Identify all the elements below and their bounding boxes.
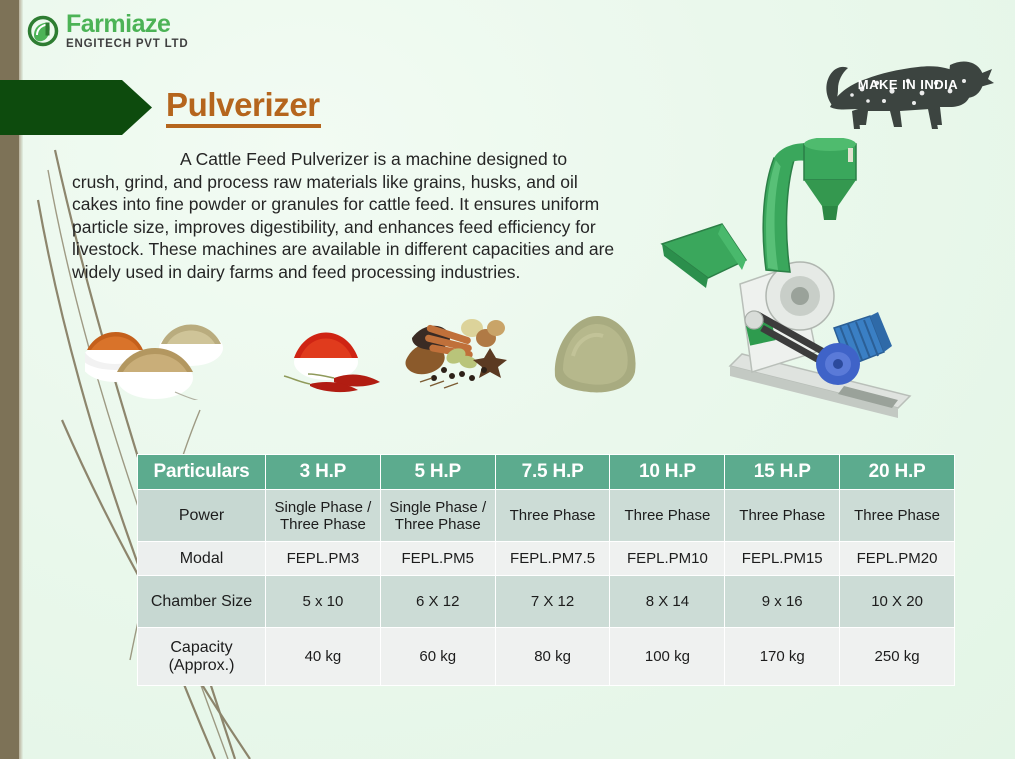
brand-name: Farmiaze	[66, 12, 188, 37]
cell-power-75hp: Three Phase	[495, 490, 610, 542]
product-photo-strip	[85, 296, 660, 406]
title-arrow-banner	[0, 80, 152, 135]
description-paragraph: A Cattle Feed Pulverizer is a machine de…	[72, 148, 617, 283]
leaf-circle-icon	[27, 15, 59, 47]
brand-logo: Farmiaze ENGITECH PVT LTD	[27, 12, 188, 51]
spice-powder-bowls-photo	[85, 300, 240, 400]
cell-chamber-10hp: 8 X 14	[610, 576, 725, 628]
page-title-underline	[166, 124, 321, 128]
cell-capacity-5hp: 60 kg	[380, 628, 495, 686]
row-label-power: Power	[138, 490, 266, 542]
slide: Farmiaze ENGITECH PVT LTD Pulverizer MAK…	[0, 0, 1015, 759]
red-chili-powder-photo	[270, 306, 390, 401]
cell-chamber-20hp: 10 X 20	[840, 576, 955, 628]
cell-chamber-15hp: 9 x 16	[725, 576, 840, 628]
row-label-modal: Modal	[138, 542, 266, 576]
row-label-chamber-size: Chamber Size	[138, 576, 266, 628]
cell-capacity-15hp: 170 kg	[725, 628, 840, 686]
col-header-75hp: 7.5 H.P	[495, 455, 610, 490]
col-header-particulars: Particulars	[138, 455, 266, 490]
table-row: Power Single Phase /Three Phase Single P…	[138, 490, 955, 542]
whole-spices-photo	[400, 298, 515, 403]
brand-subtitle: ENGITECH PVT LTD	[66, 39, 188, 51]
cell-modal-5hp: FEPL.PM5	[380, 542, 495, 576]
cell-chamber-5hp: 6 X 12	[380, 576, 495, 628]
cell-chamber-3hp: 5 x 10	[266, 576, 381, 628]
cell-capacity-20hp: 250 kg	[840, 628, 955, 686]
cell-chamber-75hp: 7 X 12	[495, 576, 610, 628]
row-label-capacity: Capacity (Approx.)	[138, 628, 266, 686]
table-header-row: Particulars 3 H.P 5 H.P 7.5 H.P 10 H.P 1…	[138, 455, 955, 490]
specifications-table: Particulars 3 H.P 5 H.P 7.5 H.P 10 H.P 1…	[137, 454, 955, 686]
cell-modal-10hp: FEPL.PM10	[610, 542, 725, 576]
cell-capacity-75hp: 80 kg	[495, 628, 610, 686]
table-row: Capacity (Approx.) 40 kg 60 kg 80 kg 100…	[138, 628, 955, 686]
make-in-india-text: MAKE IN INDIA	[858, 77, 959, 92]
cell-power-20hp: Three Phase	[840, 490, 955, 542]
cell-power-3hp: Single Phase /Three Phase	[266, 490, 381, 542]
cell-modal-3hp: FEPL.PM3	[266, 542, 381, 576]
make-in-india-logo: MAKE IN INDIA	[822, 45, 997, 133]
cell-capacity-3hp: 40 kg	[266, 628, 381, 686]
cell-modal-15hp: FEPL.PM15	[725, 542, 840, 576]
table-row: Modal FEPL.PM3 FEPL.PM5 FEPL.PM7.5 FEPL.…	[138, 542, 955, 576]
green-powder-heap-photo	[545, 300, 645, 400]
col-header-5hp: 5 H.P	[380, 455, 495, 490]
col-header-3hp: 3 H.P	[266, 455, 381, 490]
table-row: Chamber Size 5 x 10 6 X 12 7 X 12 8 X 14…	[138, 576, 955, 628]
cell-modal-20hp: FEPL.PM20	[840, 542, 955, 576]
col-header-20hp: 20 H.P	[840, 455, 955, 490]
cell-power-15hp: Three Phase	[725, 490, 840, 542]
page-title: Pulverizer	[166, 86, 320, 124]
col-header-10hp: 10 H.P	[610, 455, 725, 490]
cell-power-5hp: Single Phase /Three Phase	[380, 490, 495, 542]
cell-modal-75hp: FEPL.PM7.5	[495, 542, 610, 576]
cell-capacity-10hp: 100 kg	[610, 628, 725, 686]
cell-power-10hp: Three Phase	[610, 490, 725, 542]
col-header-15hp: 15 H.P	[725, 455, 840, 490]
pulverizer-machine-photo	[648, 138, 978, 433]
